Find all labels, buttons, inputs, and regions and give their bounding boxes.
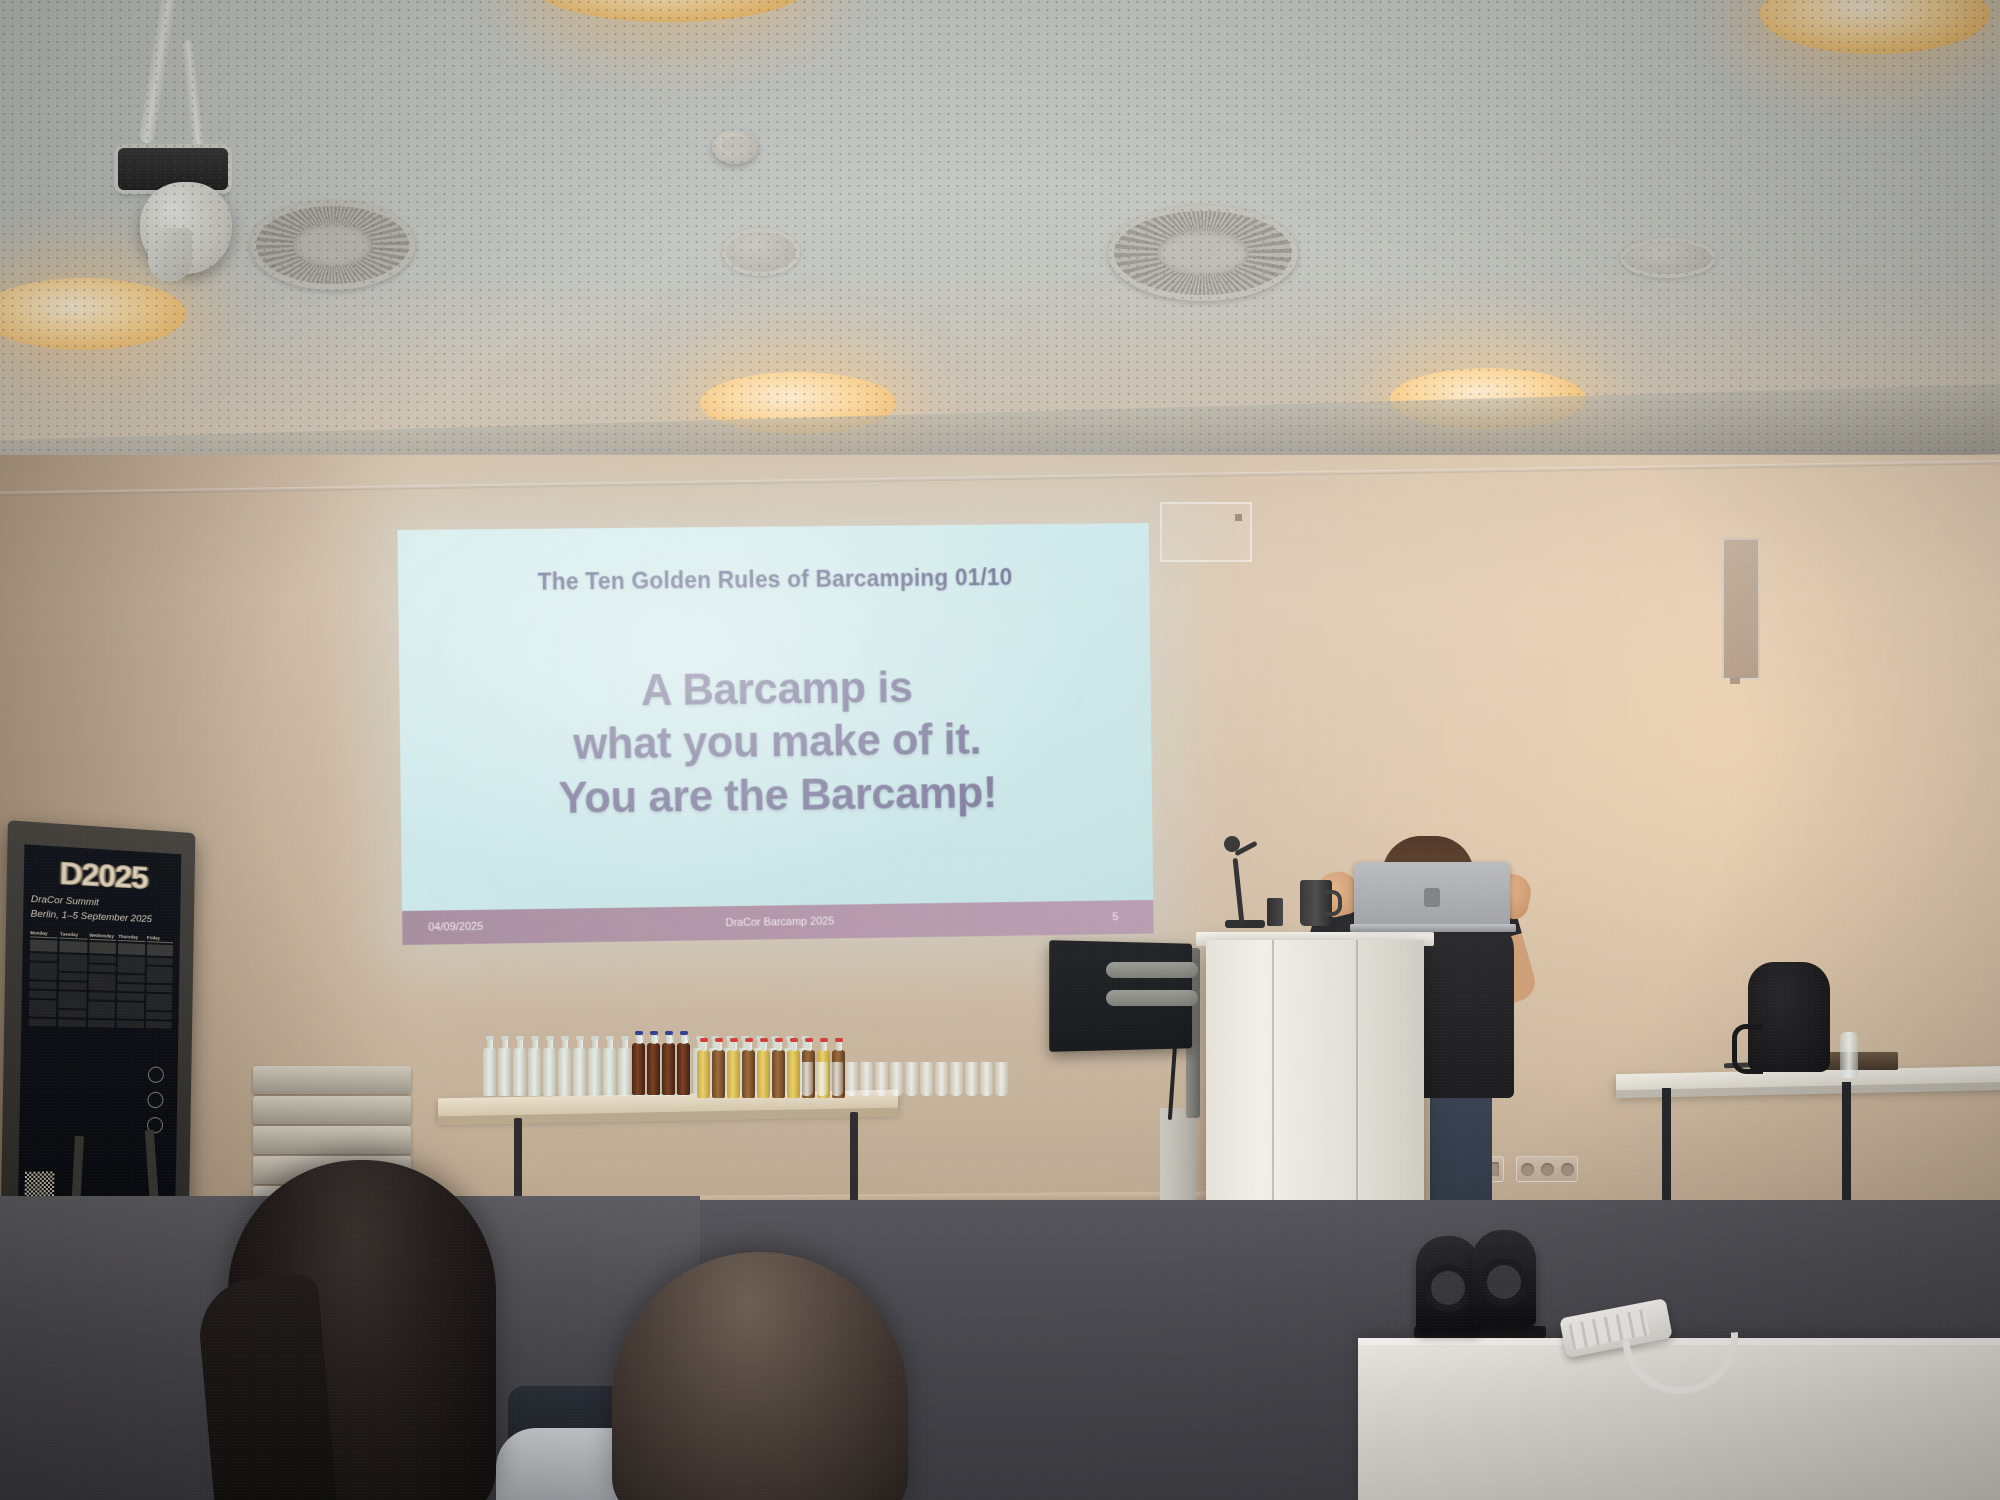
easel-board: D2025 DraCor Summit Berlin, 1–5 Septembe… (0, 820, 195, 1239)
slide-body-line-2: what you make of it. (573, 715, 981, 771)
ceiling-speaker-2 (1620, 238, 1716, 278)
room-photo-scene: The Ten Golden Rules of Barcamping 01/10… (0, 0, 2000, 1500)
drinking-glass (800, 1062, 813, 1096)
apple-juice-bottle (712, 1050, 725, 1098)
ceiling-light-2 (700, 372, 896, 434)
cable-reel-foot (1470, 1326, 1546, 1338)
ptz-camera-icon (140, 182, 232, 274)
wall-power-sockets[interactable] (1516, 1156, 1578, 1182)
slide-body-line-1: A Barcamp is (641, 663, 913, 717)
orange-juice-bottle (757, 1050, 770, 1098)
cable-reel (1472, 1230, 1536, 1326)
ceiling-speaker-1 (722, 228, 800, 276)
cola-bottle (662, 1043, 675, 1095)
ceiling-light-5 (536, 0, 804, 22)
drinking-glass (950, 1062, 963, 1096)
water-bottle (603, 1048, 616, 1096)
air-diffuser-2 (1108, 205, 1298, 301)
ceiling-light-4 (1760, 0, 1990, 54)
drinking-glass-row (800, 1062, 1010, 1096)
drinking-glass (845, 1062, 858, 1096)
drinking-glass (980, 1062, 993, 1096)
audience-head (228, 1160, 496, 1500)
microphone-base (1225, 920, 1265, 928)
apple-juice-bottle (772, 1050, 785, 1098)
drinking-glass (905, 1062, 918, 1096)
drinking-glass (935, 1062, 948, 1096)
slide-page-number: 5 (1112, 911, 1118, 923)
slide-body: A Barcamp is what you make of it. You ar… (398, 576, 1153, 911)
presenter-clicker[interactable] (1267, 898, 1283, 926)
poster-day-header: Thursday (118, 933, 145, 941)
camera-mount-bracket (118, 148, 228, 190)
projection-screen: The Ten Golden Rules of Barcamping 01/10… (397, 523, 1153, 945)
poster-day-header: Monday (30, 930, 58, 938)
drinking-glass (890, 1062, 903, 1096)
water-bottle (558, 1048, 571, 1096)
camera-cable (138, 0, 177, 144)
poster-sponsor-logos (147, 1067, 164, 1134)
poster-schedule-column: Thursday (117, 933, 145, 1029)
sponsor-logo-icon (148, 1067, 164, 1083)
water-bottle (543, 1048, 556, 1096)
poster-day-header: Wednesday (89, 932, 116, 940)
drinking-glass (815, 1062, 828, 1096)
coffee-mug (1300, 880, 1332, 926)
water-bottle (588, 1048, 601, 1096)
ceiling-light-1 (0, 278, 186, 350)
poster-schedule-grid: Monday Tuesday Wednesday Thursday (29, 930, 173, 1031)
microphone-icon (1224, 836, 1240, 852)
sponsor-logo-icon (147, 1092, 163, 1108)
ceiling-light-3 (1390, 368, 1586, 430)
camera-conduit (181, 40, 208, 171)
water-bottle (573, 1048, 586, 1096)
poster-day-header: Friday (147, 935, 173, 943)
orange-juice-bottle (697, 1050, 710, 1098)
laptop-screen[interactable] (1354, 862, 1510, 928)
orange-juice-bottle (727, 1050, 740, 1098)
camera-lens-icon (148, 228, 192, 282)
water-bottle (528, 1048, 541, 1096)
ceiling (0, 0, 2000, 500)
water-bottle (498, 1048, 511, 1096)
personal-water-bottle (1840, 1032, 1858, 1078)
poster-logo: D2025 (31, 855, 174, 895)
presentation-slide: The Ten Golden Rules of Barcamping 01/10… (397, 523, 1153, 945)
backpack (1748, 962, 1830, 1072)
water-bottle (513, 1048, 526, 1096)
cola-bottle-row (632, 1043, 692, 1095)
poster-easel: D2025 DraCor Summit Berlin, 1–5 Septembe… (0, 820, 195, 1239)
drinking-glass (965, 1062, 978, 1096)
wall-access-panel (1160, 502, 1252, 562)
water-bottle (483, 1048, 496, 1096)
slide-body-line-3: You are the Barcamp! (558, 767, 997, 824)
apple-juice-bottle (742, 1050, 755, 1098)
drinking-glass (920, 1062, 933, 1096)
drinking-glass (875, 1062, 888, 1096)
drinking-glass (995, 1062, 1008, 1096)
laptop-base[interactable] (1350, 924, 1516, 932)
cola-bottle (647, 1043, 660, 1095)
slide-footer-event: DraCor Barcamp 2025 (725, 916, 834, 930)
conference-poster: D2025 DraCor Summit Berlin, 1–5 Septembe… (18, 844, 181, 1209)
drinking-glass (830, 1062, 843, 1096)
monitor-arm-segment (1106, 962, 1198, 978)
cola-bottle (632, 1043, 645, 1095)
orange-juice-bottle (787, 1050, 800, 1098)
wall-speaker-icon (1722, 538, 1760, 680)
cable-reel (1416, 1236, 1480, 1332)
smoke-detector-icon (712, 130, 758, 164)
poster-schedule-column: Tuesday (58, 931, 87, 1029)
poster-day-header: Tuesday (60, 931, 87, 939)
slide-footer-date: 04/09/2025 (428, 921, 483, 934)
drinking-glass (860, 1062, 873, 1096)
air-diffuser-1 (250, 200, 415, 290)
cola-bottle (677, 1043, 690, 1095)
poster-schedule-column: Wednesday (88, 932, 117, 1029)
poster-schedule-column: Friday (145, 935, 173, 1031)
monitor-arm-segment (1106, 990, 1198, 1006)
water-bottle (618, 1048, 631, 1096)
ceiling-light-wash (0, 0, 2000, 500)
poster-schedule-column: Monday (29, 930, 58, 1028)
